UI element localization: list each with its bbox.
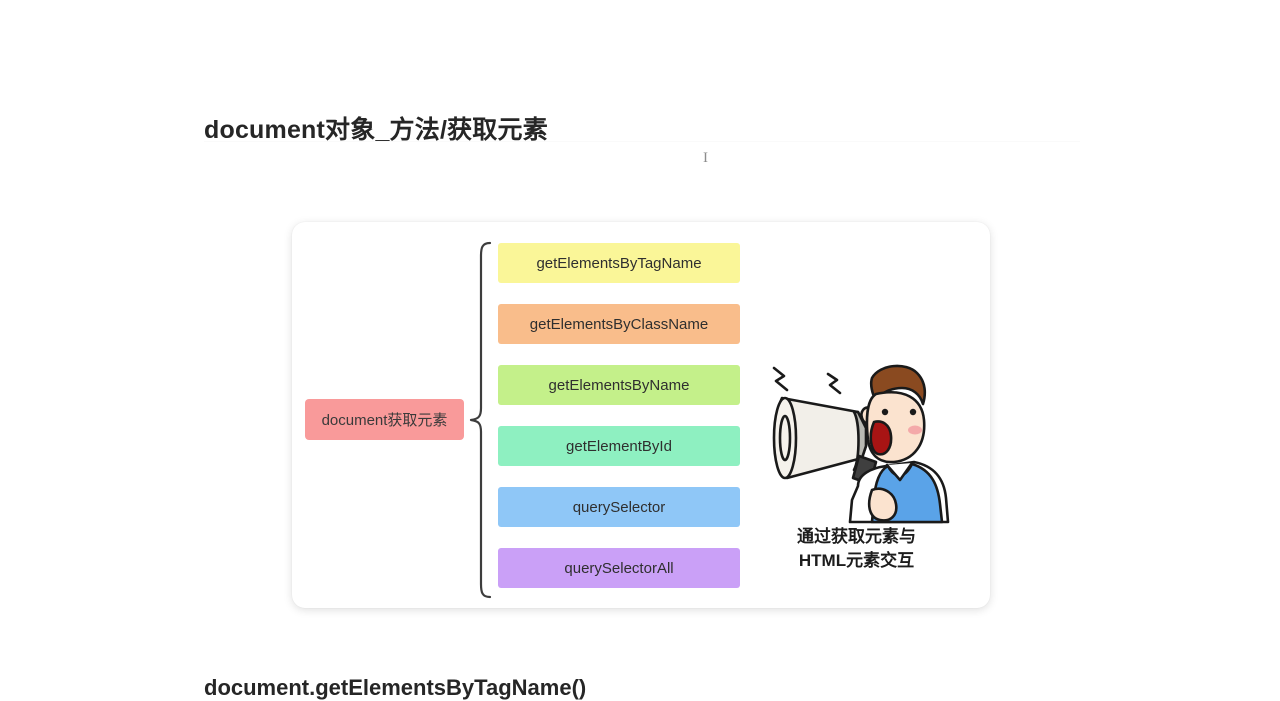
leaf-box-get-elements-by-tag-name: getElementsByTagName: [498, 243, 740, 283]
leaf-box-get-elements-by-name: getElementsByName: [498, 365, 740, 405]
illustration-caption-line1: 通过获取元素与: [754, 525, 959, 549]
megaphone-icon: [754, 350, 954, 525]
diagram-card: document获取元素 getElementsByTagName getEle…: [292, 222, 990, 608]
leaf-box-label: getElementsByName: [549, 377, 690, 394]
leaf-box-query-selector: querySelector: [498, 487, 740, 527]
leaf-box-label: querySelector: [573, 499, 666, 516]
leaf-box-label: getElementsByTagName: [536, 255, 701, 272]
leaf-box-get-element-by-id: getElementById: [498, 426, 740, 466]
leaf-box-query-selector-all: querySelectorAll: [498, 548, 740, 588]
diagram-leaf-list: getElementsByTagName getElementsByClassN…: [498, 243, 740, 588]
section-heading: document.getElementsByTagName(): [204, 675, 586, 701]
illustration-caption-line2: HTML元素交互: [754, 549, 959, 573]
man-with-megaphone-illustration: [754, 350, 954, 525]
leaf-box-label: getElementsByClassName: [530, 316, 708, 333]
text-cursor-caret: I: [702, 151, 709, 166]
diagram-root-node: document获取元素: [305, 399, 464, 440]
illustration-caption: 通过获取元素与 HTML元素交互: [754, 525, 959, 573]
title-divider: [204, 141, 1080, 142]
leaf-box-label: getElementById: [566, 438, 672, 455]
diagram-root-node-label: document获取元素: [322, 409, 448, 430]
leaf-box-label: querySelectorAll: [564, 560, 673, 577]
bracket-connector: [468, 240, 492, 600]
bracket-icon: [468, 240, 492, 600]
leaf-box-get-elements-by-class-name: getElementsByClassName: [498, 304, 740, 344]
